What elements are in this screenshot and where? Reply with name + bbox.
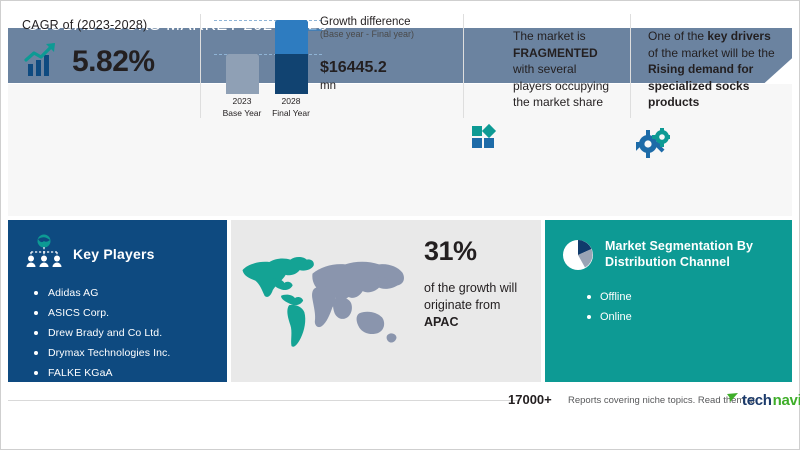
fragmented-line3: players occupying <box>513 79 609 93</box>
list-item: Drew Brady and Co Ltd. <box>34 323 227 343</box>
key-players-list: Adidas AG ASICS Corp. Drew Brady and Co … <box>8 283 227 383</box>
market-segmentation-panel: Market Segmentation By Distribution Chan… <box>545 220 792 382</box>
divider-3 <box>630 14 631 118</box>
apac-line2: originate from <box>424 298 500 312</box>
pie-chart-icon <box>561 238 595 277</box>
cagr-value: 5.82% <box>72 45 155 79</box>
segmentation-title-line2: Distribution Channel <box>605 255 730 269</box>
drivers-bold1: key drivers <box>707 29 770 43</box>
growth-title: Growth difference <box>320 16 455 28</box>
bar-label-2028-sub: Final Year <box>261 108 321 118</box>
growth-value: $16445.2 <box>320 59 455 77</box>
fragmented-line1: The market is <box>513 29 586 43</box>
divider-1 <box>200 14 201 118</box>
list-item: Drymax Technologies Inc. <box>34 343 227 363</box>
logo-navio-text: navio <box>773 392 800 409</box>
detail-band: Key Players Adidas AG ASICS Corp. Drew B… <box>8 220 792 382</box>
apac-line1: of the growth will <box>424 281 517 295</box>
apac-growth-panel: 31% of the growth will originate from AP… <box>231 220 541 382</box>
fragmented-text: The market is FRAGMENTED with several pl… <box>513 28 648 111</box>
divider-2 <box>463 14 464 118</box>
list-item: ASICS Corp. <box>34 303 227 323</box>
gears-icon <box>636 128 670 163</box>
fragmented-bold: FRAGMENTED <box>513 46 598 60</box>
arrow-left-icon <box>296 26 322 34</box>
key-players-title: Key Players <box>73 246 155 262</box>
cagr-block: CAGR of (2023-2028) 5.82% <box>22 18 207 81</box>
segmentation-title: Market Segmentation By Distribution Chan… <box>605 238 753 270</box>
growth-unit: mn <box>320 80 455 92</box>
key-drivers-text: One of the key drivers of the market wil… <box>648 28 800 111</box>
growth-difference-block: Growth difference (Base year - Final yea… <box>320 16 455 92</box>
drivers-line2: of the market will be the <box>648 46 775 60</box>
world-map-icon <box>239 238 414 363</box>
bar-chart-growth-icon <box>22 42 64 81</box>
key-players-panel: Key Players Adidas AG ASICS Corp. Drew B… <box>8 220 227 382</box>
drivers-line1: One of the <box>648 29 707 43</box>
bar-label-2028-year: 2028 <box>261 96 321 106</box>
segmentation-list: Offline Online <box>545 287 792 327</box>
apac-region: APAC <box>424 315 459 329</box>
footer-divider <box>8 400 518 401</box>
list-item: Adidas AG <box>34 283 227 303</box>
navio-arrow-icon <box>726 391 739 409</box>
squares-grid-icon <box>472 116 508 155</box>
growth-subtitle: (Base year - Final year) <box>320 29 455 39</box>
segmentation-title-line1: Market Segmentation By <box>605 239 753 253</box>
org-chart-people-icon <box>24 234 64 273</box>
technavio-logo[interactable]: tech navio ® <box>726 391 800 409</box>
list-item: FALKE KGaA <box>34 363 227 383</box>
drivers-bold3: specialized socks <box>648 79 749 93</box>
fragmented-line4: the market share <box>513 95 603 109</box>
apac-description: of the growth will originate from APAC <box>424 280 539 331</box>
report-count: 17000+ <box>508 392 552 407</box>
drivers-bold2: Rising demand for <box>648 62 753 76</box>
fragmented-line2: with several <box>513 62 576 76</box>
list-item: Online <box>587 307 792 327</box>
list-item: Offline <box>587 287 792 307</box>
drivers-bold4: products <box>648 95 699 109</box>
bar-2023 <box>226 54 259 94</box>
cagr-label: CAGR of (2023-2028) <box>22 18 207 32</box>
logo-tech-text: tech <box>742 392 772 409</box>
apac-percent: 31% <box>424 236 477 267</box>
footer: 17000+ Reports covering niche topics. Re… <box>8 382 792 442</box>
